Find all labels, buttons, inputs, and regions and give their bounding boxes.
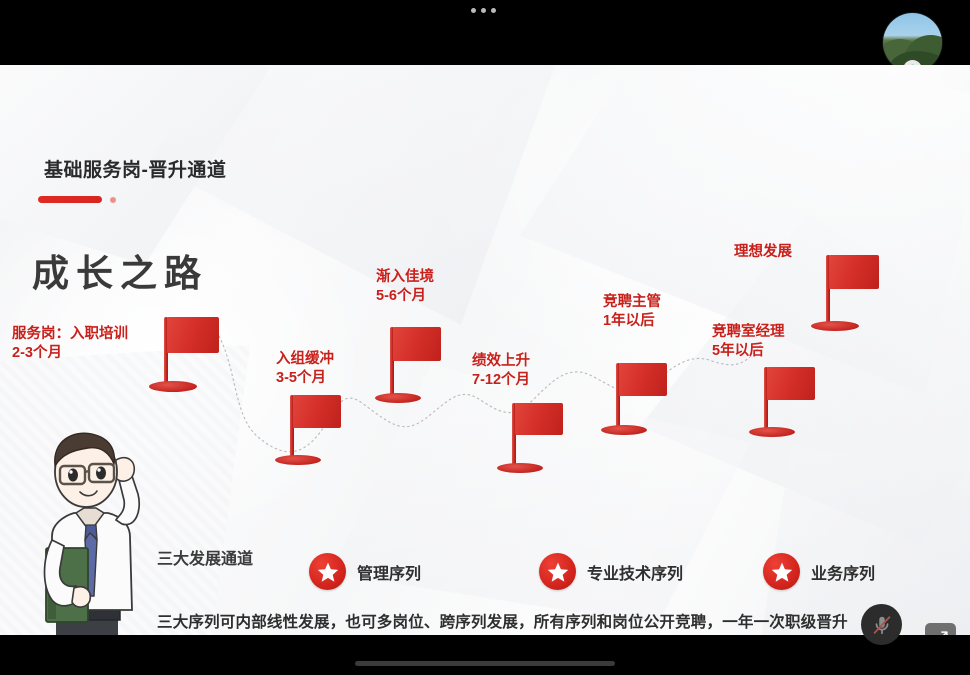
bottom-bar	[0, 635, 970, 675]
milestone-name-7: 理想发展	[734, 243, 792, 262]
star-icon-2	[539, 553, 576, 590]
flag-base-3	[375, 393, 421, 403]
flag-cloth-1	[167, 317, 219, 353]
flag-base-6	[749, 427, 795, 437]
star-icon-3	[763, 553, 800, 590]
mute-toggle-button[interactable]	[861, 604, 902, 645]
top-bar	[0, 0, 970, 65]
flag-base-5	[601, 425, 647, 435]
milestone-duration-6: 5年以后	[712, 342, 785, 361]
star-icon-1	[309, 553, 346, 590]
flag-cloth-7	[829, 255, 879, 289]
flag-cloth-2	[293, 395, 341, 428]
milestone-name-6: 竞聘室经理	[712, 323, 785, 342]
milestone-name-1: 服务岗：入职培训	[12, 325, 128, 344]
channel-item-1[interactable]: 管理序列	[309, 553, 421, 590]
channel-item-2[interactable]: 专业技术序列	[539, 553, 683, 590]
flag-cloth-6	[767, 367, 815, 400]
flag-base-4	[497, 463, 543, 473]
milestone-label-3: 渐入佳境 5-6个月	[376, 268, 434, 306]
home-indicator[interactable]	[355, 661, 615, 666]
milestone-label-1: 服务岗：入职培训 2-3个月	[12, 325, 128, 363]
milestone-name-4: 绩效上升	[472, 352, 530, 371]
more-options-icon[interactable]	[471, 8, 496, 13]
milestone-duration-2: 3-5个月	[276, 369, 334, 388]
dot-1	[471, 8, 476, 13]
milestone-duration-3: 5-6个月	[376, 287, 434, 306]
flag-base-1	[149, 381, 197, 392]
slide-caption: 三大序列可内部线性发展，也可多岗位、跨序列发展，所有序列和岗位公开竞聘，一年一次…	[157, 610, 848, 632]
channel-label-3: 业务序列	[811, 560, 875, 584]
milestone-duration-4: 7-12个月	[472, 371, 530, 390]
milestone-label-5: 竞聘主管 1年以后	[603, 293, 661, 331]
microphone-muted-icon	[871, 614, 893, 636]
milestone-name-3: 渐入佳境	[376, 268, 434, 287]
expand-slide-button[interactable]	[925, 623, 956, 635]
flag-cloth-4	[515, 403, 563, 435]
channel-label-2: 专业技术序列	[587, 560, 683, 584]
flag-base-2	[275, 455, 321, 465]
person-illustration	[18, 420, 178, 635]
flag-base-7	[811, 321, 859, 331]
milestone-name-2: 入组缓冲	[276, 350, 334, 369]
milestone-label-6: 竞聘室经理 5年以后	[712, 323, 785, 361]
milestone-duration-5: 1年以后	[603, 312, 661, 331]
slide-canvas[interactable]: 基础服务岗-晋升通道 成长之路 服务岗：入职培训 2-3个月 入组缓冲 3-5个…	[0, 65, 970, 635]
channels-heading: 三大发展通道	[157, 545, 253, 569]
milestone-label-2: 入组缓冲 3-5个月	[276, 350, 334, 388]
flag-cloth-3	[393, 327, 441, 361]
channel-item-3[interactable]: 业务序列	[763, 553, 875, 590]
dot-3	[491, 8, 496, 13]
milestone-label-4: 绩效上升 7-12个月	[472, 352, 530, 390]
channel-label-1: 管理序列	[357, 560, 421, 584]
dot-2	[481, 8, 486, 13]
milestone-name-5: 竞聘主管	[603, 293, 661, 312]
milestone-label-7: 理想发展	[734, 243, 792, 262]
milestone-duration-1: 2-3个月	[12, 344, 128, 363]
flag-cloth-5	[619, 363, 667, 396]
